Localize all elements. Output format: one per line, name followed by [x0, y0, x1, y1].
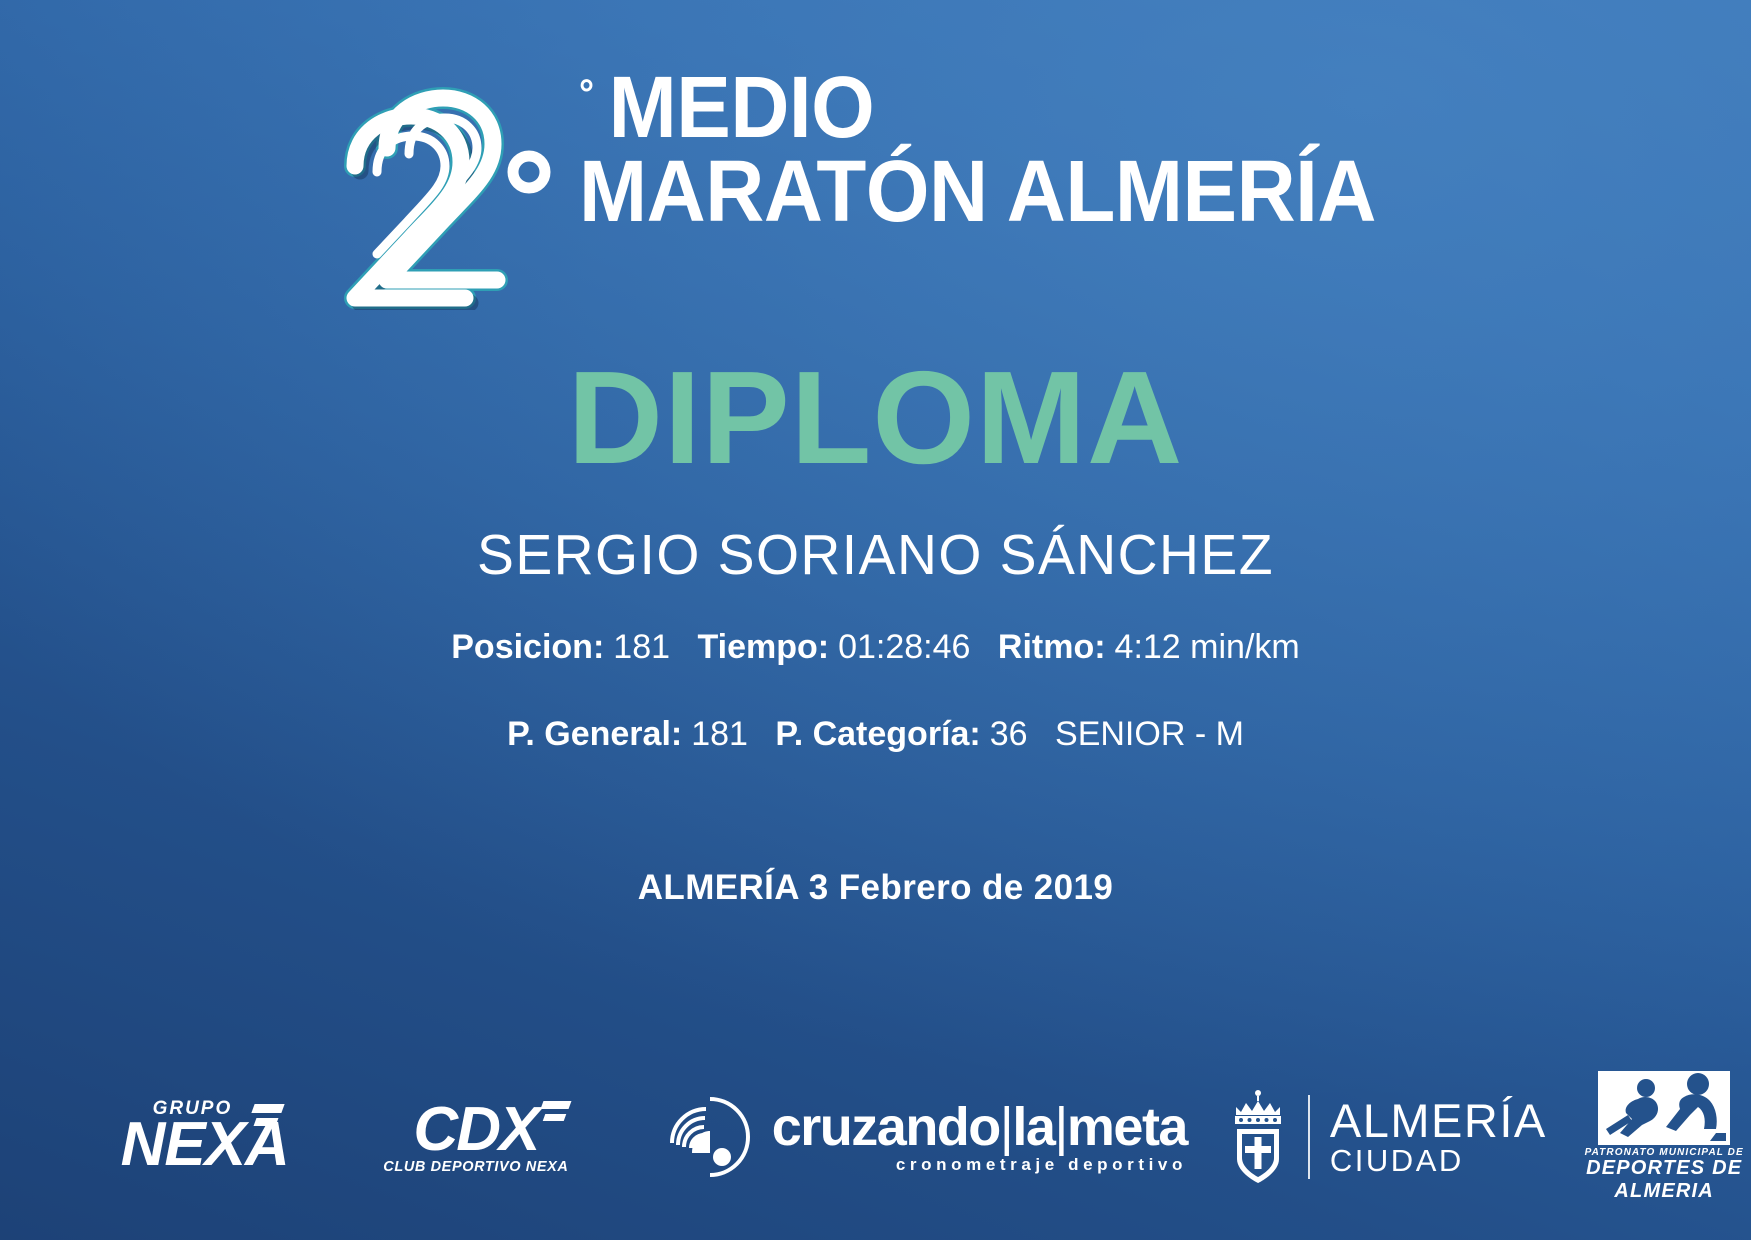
- ritmo-label: Ritmo:: [998, 628, 1106, 666]
- title-block: °MEDIO MARATÓN ALMERÍA: [579, 62, 1427, 235]
- logo-divider: [1308, 1095, 1310, 1179]
- cruz-part-b: la: [1012, 1097, 1054, 1157]
- sponsor-patronato-deportes: PATRONATO MUNICIPAL DE DEPORTES DE ALMER…: [1577, 1071, 1751, 1203]
- cruzandolameta-wordmark: cruzando|la|meta: [772, 1100, 1187, 1154]
- cruz-part-a: cruzando: [772, 1097, 1000, 1157]
- cdx-subtitle: CLUB DEPORTIVO NEXA: [383, 1159, 568, 1175]
- posicion-label: Posicion:: [451, 628, 604, 666]
- p-categoria-value: 36: [990, 715, 1028, 753]
- posicion-value: 181: [613, 628, 670, 666]
- almeria-ciudad-line-1: ALMERÍA: [1330, 1098, 1547, 1144]
- almeria-ciudad-line-2: CIUDAD: [1330, 1145, 1547, 1176]
- cruz-part-c: meta: [1067, 1097, 1187, 1157]
- cruz-divider-2: |: [1054, 1097, 1067, 1157]
- speed-tick-icon: [251, 1104, 284, 1113]
- speed-tick-icon: [543, 1114, 567, 1121]
- p-general-value: 181: [691, 715, 748, 753]
- event-place-date: ALMERÍA 3 Febrero de 2019: [0, 868, 1751, 908]
- results-row-1: Posicion:181 Tiempo:01:28:46 Ritmo:4:12 …: [0, 628, 1751, 667]
- title-line-1: °MEDIO: [579, 66, 1376, 150]
- speed-tick-icon: [541, 1101, 572, 1109]
- overlapping-22-outline-logo: [325, 80, 565, 310]
- results-row-2: P. General:181 P. Categoría:36 SENIOR - …: [0, 715, 1751, 754]
- edition-degree-symbol: °: [579, 75, 594, 114]
- title-line-1-text: MEDIO: [608, 59, 874, 156]
- diploma-heading: DIPLOMA: [0, 352, 1751, 484]
- title-line-2-text: MARATÓN ALMERÍA: [579, 143, 1376, 240]
- speed-tick-icon: [253, 1118, 278, 1126]
- title-line-2: MARATÓN ALMERÍA: [579, 150, 1376, 234]
- cruzandolameta-subtitle: cronometraje deportivo: [772, 1155, 1187, 1175]
- sponsor-grupo-nexa: GRUPO NEXA: [60, 1098, 349, 1176]
- patronato-line-2: DEPORTES DE ALMERIA: [1577, 1157, 1751, 1203]
- tiempo-value: 01:28:46: [838, 628, 970, 666]
- crowned-shield-coat-of-arms-icon: [1228, 1089, 1288, 1185]
- running-athletes-icon: [1598, 1071, 1730, 1145]
- sponsor-bar: GRUPO NEXA CDX CLUB DEPORTIVO NEXA: [0, 1072, 1751, 1202]
- stopwatch-dial-icon: [658, 1085, 762, 1189]
- diploma-certificate: °MEDIO MARATÓN ALMERÍA DIPLOMA SERGIO SO…: [0, 0, 1751, 1240]
- header: °MEDIO MARATÓN ALMERÍA: [0, 62, 1751, 310]
- sponsor-cruzandolameta: cruzando|la|meta cronometraje deportivo: [662, 1085, 1182, 1189]
- ritmo-value: 4:12 min/km: [1115, 628, 1300, 666]
- p-categoria-label: P. Categoría:: [775, 715, 980, 753]
- sponsor-almeria-ciudad: ALMERÍA CIUDAD: [1237, 1089, 1537, 1185]
- athlete-name: SERGIO SORIANO SÁNCHEZ: [26, 522, 1724, 588]
- cruz-divider: |: [1000, 1097, 1013, 1157]
- categoria-name: SENIOR - M: [1055, 715, 1244, 753]
- tiempo-label: Tiempo:: [697, 628, 829, 666]
- p-general-label: P. General:: [507, 715, 682, 753]
- sponsor-cdx: CDX CLUB DEPORTIVO NEXA: [379, 1099, 572, 1175]
